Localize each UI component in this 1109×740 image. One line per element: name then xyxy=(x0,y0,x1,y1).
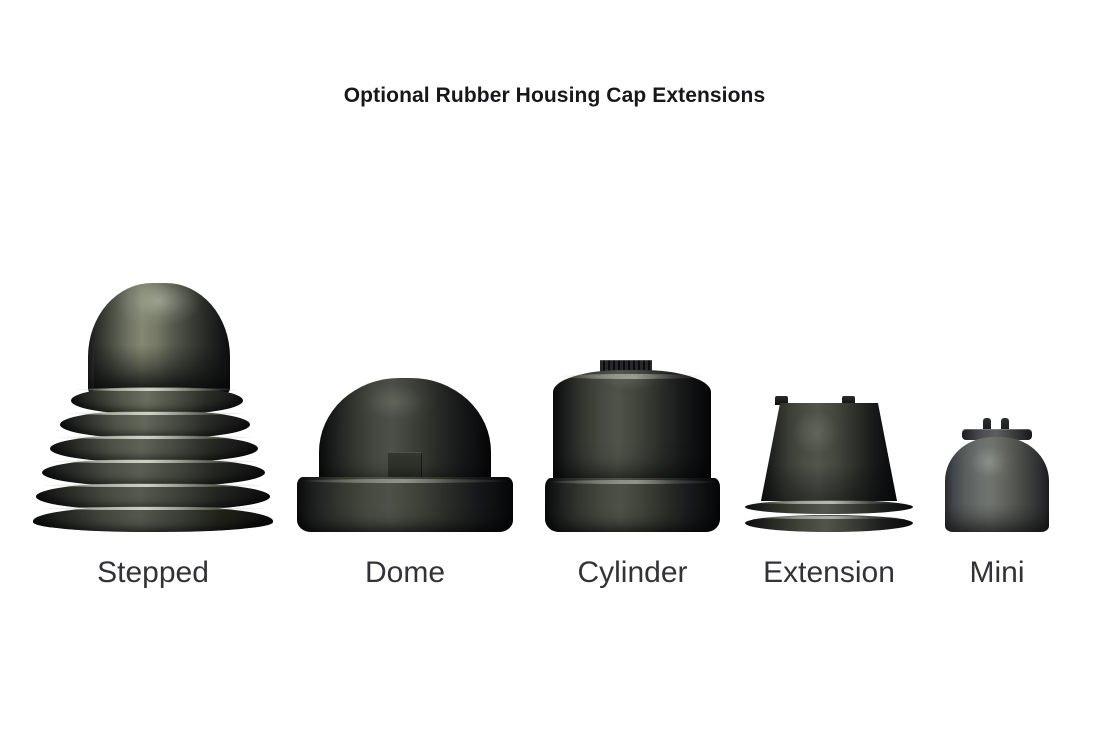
product-cylinder-figure xyxy=(545,360,720,532)
extension-base-ring-upper xyxy=(745,500,913,514)
cylinder-body xyxy=(553,370,711,482)
cylinder-base-flange xyxy=(545,478,720,532)
product-label-dome: Dome xyxy=(297,556,513,590)
mini-body xyxy=(945,437,1049,532)
stepped-ring-4 xyxy=(42,459,265,486)
product-row: Stepped Dome Cylinder Extension xyxy=(0,0,1109,740)
extension-base-ring-lower xyxy=(745,515,913,532)
product-label-extension: Extension xyxy=(745,556,913,590)
product-label-cylinder: Cylinder xyxy=(545,556,720,590)
product-extension-figure xyxy=(745,396,913,532)
product-label-stepped: Stepped xyxy=(33,556,273,590)
product-mini-figure xyxy=(945,418,1049,532)
stepped-ring-1 xyxy=(71,387,243,414)
product-dome-figure xyxy=(297,378,513,532)
product-label-mini: Mini xyxy=(945,556,1049,590)
stepped-ring-3 xyxy=(50,435,258,462)
product-comparison-image: Optional Rubber Housing Cap Extensions S… xyxy=(0,0,1109,740)
product-stepped-figure xyxy=(33,283,273,532)
dome-front-tab xyxy=(388,452,422,479)
stepped-ring-6 xyxy=(33,506,273,532)
stepped-ring-2 xyxy=(60,411,250,438)
dome-base-flange xyxy=(297,477,513,532)
stepped-dome-top xyxy=(88,283,230,395)
extension-cone-body xyxy=(761,403,897,501)
